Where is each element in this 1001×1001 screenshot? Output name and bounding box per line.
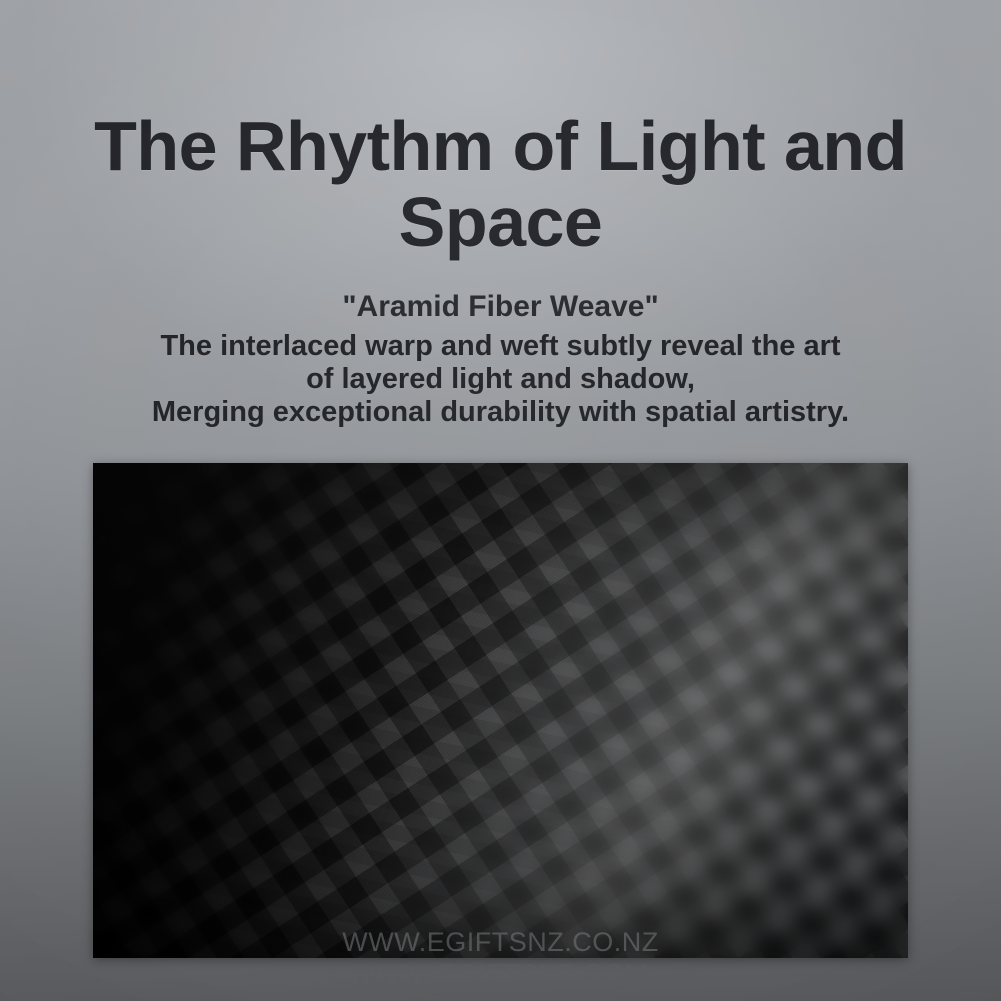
watermark-url-secondary: WWW.EGIFTSNZ.COM bbox=[0, 958, 1001, 990]
poster-canvas: The Rhythm of Light and Space "Aramid Fi… bbox=[0, 0, 1001, 1001]
description-line-1: The interlaced warp and weft subtly reve… bbox=[31, 330, 971, 363]
description-line-3: Merging exceptional durability with spat… bbox=[31, 396, 971, 429]
product-photo: EGIFTS bbox=[93, 463, 908, 958]
weave-fiber-layer-alt bbox=[93, 463, 908, 958]
product-name: "Aramid Fiber Weave" bbox=[31, 288, 971, 326]
subtitle-block: "Aramid Fiber Weave" The interlaced warp… bbox=[31, 288, 971, 429]
description-line-2: of layered light and shadow, bbox=[31, 363, 971, 396]
page-title: The Rhythm of Light and Space bbox=[51, 108, 951, 260]
